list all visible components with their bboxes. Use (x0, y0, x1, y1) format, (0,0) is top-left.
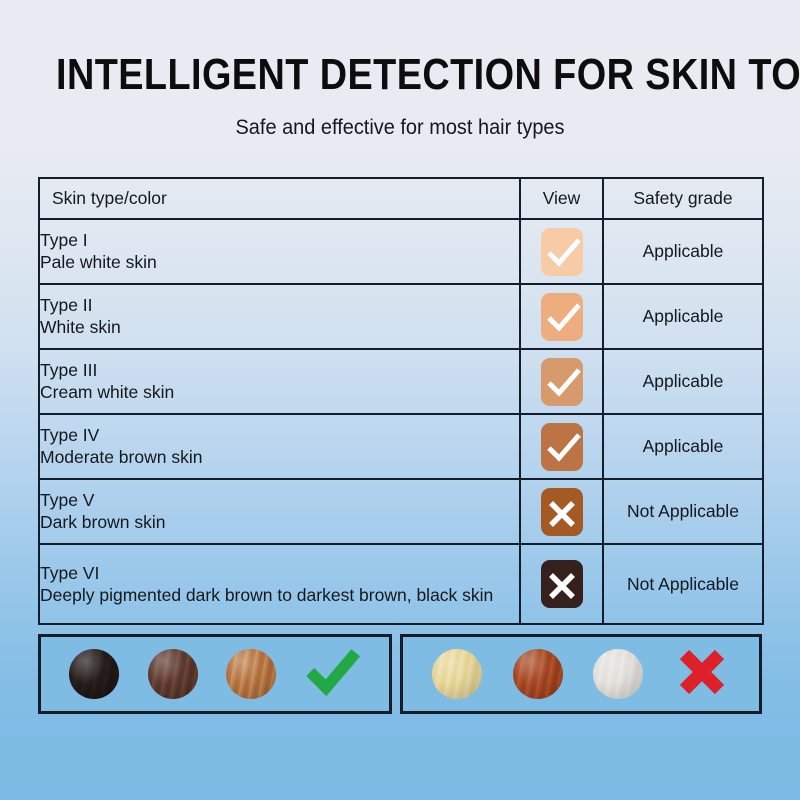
cell-safety-grade: Applicable (603, 284, 763, 349)
cell-view (520, 544, 603, 624)
table-row: Type IIICream white skinApplicable (39, 349, 763, 414)
table-row: Type IPale white skinApplicable (39, 219, 763, 284)
cell-safety-grade: Applicable (603, 349, 763, 414)
light-brown-hair (226, 649, 276, 699)
cell-skin-type: Type VDark brown skin (39, 479, 520, 544)
table-row: Type VIDeeply pigmented dark brown to da… (39, 544, 763, 624)
green-check-icon (305, 644, 361, 705)
skin-type-name: Type IV (40, 424, 519, 446)
hair-panel-not-applicable (400, 634, 762, 714)
skin-type-description: White skin (40, 316, 519, 339)
skin-type-description: Deeply pigmented dark brown to darkest b… (40, 584, 519, 607)
cell-view (520, 349, 603, 414)
cell-skin-type: Type IIICream white skin (39, 349, 520, 414)
red-cross-icon (674, 644, 730, 705)
table-header-row: Skin type/color View Safety grade (39, 178, 763, 219)
cell-view (520, 284, 603, 349)
table-header: Skin type/color View Safety grade (39, 178, 763, 219)
cross-icon (562, 488, 563, 489)
red-ginger-hair (513, 649, 563, 699)
cell-skin-type: Type VIDeeply pigmented dark brown to da… (39, 544, 520, 624)
cell-safety-grade: Applicable (603, 414, 763, 479)
cell-view (520, 414, 603, 479)
blonde-hair (432, 649, 482, 699)
skin-type-table: Skin type/color View Safety grade Type I… (38, 177, 764, 625)
skin-type-description: Moderate brown skin (40, 446, 519, 469)
skin-type-description: Cream white skin (40, 381, 519, 404)
skin-type-table-container: Skin type/color View Safety grade Type I… (38, 177, 762, 625)
cell-safety-grade: Not Applicable (603, 544, 763, 624)
skin-type-name: Type V (40, 489, 519, 511)
header: INTELLIGENT DETECTION FOR SKIN TONE Safe… (0, 0, 800, 140)
cell-skin-type: Type IPale white skin (39, 219, 520, 284)
skin-type-description: Dark brown skin (40, 511, 519, 534)
skin-type-name: Type I (40, 229, 519, 251)
skin-type-description: Pale white skin (40, 251, 519, 274)
skin-tone-swatch (541, 560, 583, 608)
check-icon (562, 423, 563, 424)
column-header-view: View (520, 178, 603, 219)
table-row: Type IIWhite skinApplicable (39, 284, 763, 349)
check-icon (562, 358, 563, 359)
skin-type-name: Type VI (40, 562, 519, 584)
column-header-skin-type: Skin type/color (39, 178, 520, 219)
hair-panel-applicable (38, 634, 392, 714)
cell-safety-grade: Not Applicable (603, 479, 763, 544)
cell-view (520, 219, 603, 284)
skin-type-name: Type II (40, 294, 519, 316)
cell-skin-type: Type IIWhite skin (39, 284, 520, 349)
hair-type-panels (38, 634, 762, 714)
column-header-safety-grade: Safety grade (603, 178, 763, 219)
skin-tone-swatch (541, 358, 583, 406)
check-icon (562, 293, 563, 294)
page-title: INTELLIGENT DETECTION FOR SKIN TONE (56, 52, 744, 98)
white-grey-hair (593, 649, 643, 699)
dark-brown-hair (148, 649, 198, 699)
skin-tone-swatch (541, 293, 583, 341)
cell-skin-type: Type IVModerate brown skin (39, 414, 520, 479)
skin-tone-swatch (541, 423, 583, 471)
cross-icon (562, 560, 563, 561)
cell-view (520, 479, 603, 544)
cell-safety-grade: Applicable (603, 219, 763, 284)
skin-type-name: Type III (40, 359, 519, 381)
black-hair (69, 649, 119, 699)
table-row: Type IVModerate brown skinApplicable (39, 414, 763, 479)
skin-tone-swatch (541, 228, 583, 276)
table-body: Type IPale white skinApplicableType IIWh… (39, 219, 763, 624)
check-icon (562, 228, 563, 229)
table-row: Type VDark brown skinNot Applicable (39, 479, 763, 544)
skin-tone-swatch (541, 488, 583, 536)
page-subtitle: Safe and effective for most hair types (20, 116, 780, 140)
